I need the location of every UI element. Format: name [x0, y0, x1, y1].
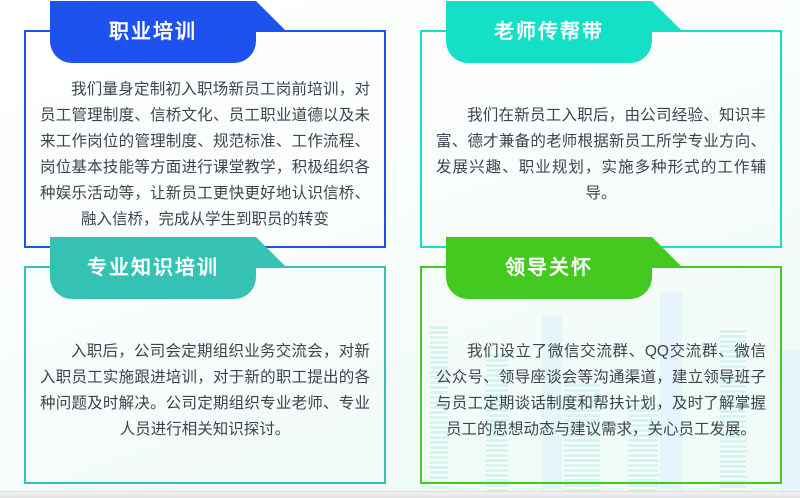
- card-title: 职业培训: [109, 22, 197, 42]
- fold-corner-icon: [652, 1, 682, 31]
- card-body-text: 我们在新员工入职后，由公司经验、知识丰富、德才兼备的老师根据新员工所学专业方向、…: [436, 103, 766, 207]
- fold-corner-icon: [256, 237, 286, 267]
- card-title-tab-wrap: 专业知识培训: [50, 237, 256, 299]
- fold-corner-icon: [652, 237, 682, 267]
- card-body: 我们在新员工入职后，由公司经验、知识丰富、德才兼备的老师根据新员工所学专业方向、…: [422, 72, 780, 238]
- card-title-tab[interactable]: 领导关怀: [446, 237, 652, 299]
- card-title-tab-wrap: 职业培训: [50, 1, 256, 63]
- card-body: 我们量身定制初入职场新员工岗前培训，对员工管理制度、信桥文化、员工职业道德以及未…: [26, 72, 384, 238]
- card-title-tab[interactable]: 老师传帮带: [446, 1, 652, 63]
- card-vocational-training[interactable]: 职业培训 我们量身定制初入职场新员工岗前培训，对员工管理制度、信桥文化、员工职业…: [24, 30, 386, 248]
- fold-corner-icon: [256, 1, 286, 31]
- page-bottom-edge: [0, 491, 800, 498]
- card-body: 入职后，公司会定期组织业务交流会，对新入职员工实施跟进培训，对于新的职工提出的各…: [26, 308, 384, 474]
- page-root: 职业培训 我们量身定制初入职场新员工岗前培训，对员工管理制度、信桥文化、员工职业…: [0, 0, 800, 498]
- card-leadership-care[interactable]: 领导关怀 我们设立了微信交流群、QQ交流群、微信公众号、领导座谈会等沟通渠道，建…: [420, 266, 782, 484]
- card-title: 专业知识培训: [87, 258, 219, 278]
- card-title-tab[interactable]: 专业知识培训: [50, 237, 256, 299]
- card-grid: 职业培训 我们量身定制初入职场新员工岗前培训，对员工管理制度、信桥文化、员工职业…: [0, 0, 800, 498]
- card-body-text: 我们量身定制初入职场新员工岗前培训，对员工管理制度、信桥文化、员工职业道德以及未…: [40, 77, 370, 233]
- card-title: 老师传帮带: [494, 22, 604, 42]
- card-title: 领导关怀: [505, 258, 593, 278]
- card-title-tab-wrap: 领导关怀: [446, 237, 652, 299]
- card-title-tab-wrap: 老师传帮带: [446, 1, 652, 63]
- card-professional-knowledge-training[interactable]: 专业知识培训 入职后，公司会定期组织业务交流会，对新入职员工实施跟进培训，对于新…: [24, 266, 386, 484]
- card-body-text: 我们设立了微信交流群、QQ交流群、微信公众号、领导座谈会等沟通渠道，建立领导班子…: [436, 339, 766, 443]
- card-body-text: 入职后，公司会定期组织业务交流会，对新入职员工实施跟进培训，对于新的职工提出的各…: [40, 339, 370, 443]
- card-body: 我们设立了微信交流群、QQ交流群、微信公众号、领导座谈会等沟通渠道，建立领导班子…: [422, 308, 780, 474]
- card-teacher-mentoring[interactable]: 老师传帮带 我们在新员工入职后，由公司经验、知识丰富、德才兼备的老师根据新员工所…: [420, 30, 782, 248]
- card-title-tab[interactable]: 职业培训: [50, 1, 256, 63]
